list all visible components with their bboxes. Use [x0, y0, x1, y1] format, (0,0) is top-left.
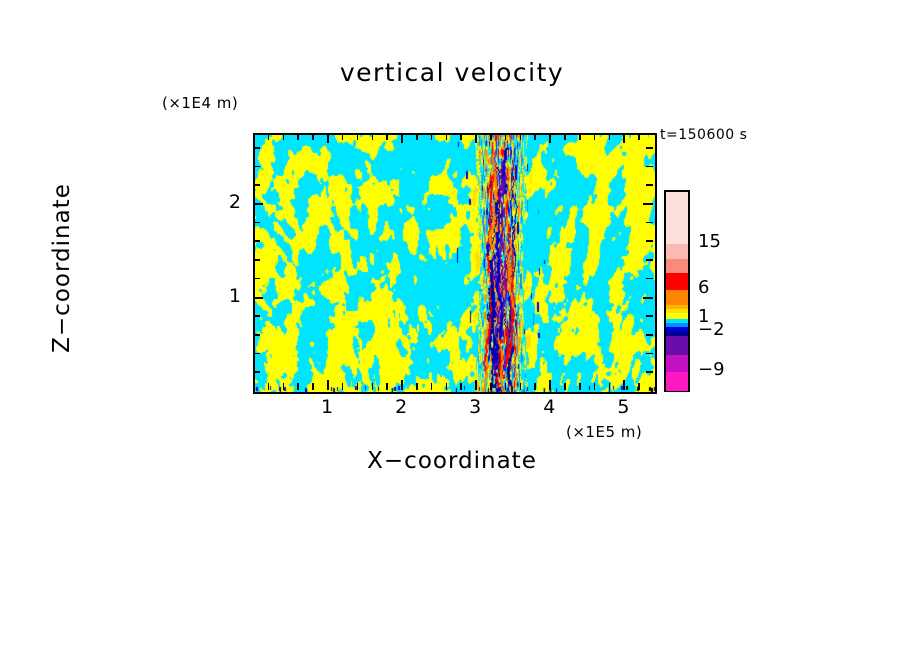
- y-tick-right: [646, 315, 653, 317]
- x-tick: [297, 383, 299, 390]
- x-tick: [327, 380, 329, 390]
- colorbar-band: [666, 355, 688, 373]
- colorbar-container: 1561−2−9: [664, 190, 690, 392]
- x-tick: [490, 383, 492, 390]
- x-tick: [342, 383, 344, 390]
- x-tick-top: [579, 133, 581, 140]
- x-axis-title: X−coordinate: [0, 448, 904, 474]
- x-axis-unit-label: (×1E5 m): [566, 423, 642, 441]
- y-tick: [253, 371, 260, 373]
- x-tick: [268, 383, 270, 390]
- x-tick-top: [431, 133, 433, 140]
- colorbar-band: [666, 372, 688, 391]
- x-tick: [416, 383, 418, 390]
- x-tick-top: [372, 133, 374, 140]
- colorbar-tick-label: 6: [698, 277, 709, 298]
- x-tick: [401, 380, 403, 390]
- colorbar-band: [666, 273, 688, 291]
- y-tick: [253, 334, 260, 336]
- x-tick-top: [505, 133, 507, 140]
- x-tick-top: [623, 133, 625, 143]
- colorbar-band: [666, 336, 688, 355]
- x-tick-top: [460, 133, 462, 140]
- y-tick: [253, 222, 260, 224]
- x-tick-label: 3: [455, 396, 495, 418]
- x-tick: [372, 383, 374, 390]
- y-tick-right: [646, 259, 653, 261]
- y-tick-label: 1: [201, 285, 241, 307]
- x-tick: [475, 380, 477, 390]
- y-axis-unit-label: (×1E4 m): [162, 94, 238, 112]
- y-tick: [253, 184, 260, 186]
- y-tick-right: [646, 353, 653, 355]
- x-tick-label: 2: [381, 396, 421, 418]
- y-tick: [253, 147, 260, 149]
- x-tick-top: [342, 133, 344, 140]
- x-tick: [594, 383, 596, 390]
- x-tick: [460, 383, 462, 390]
- x-tick: [549, 380, 551, 390]
- x-tick-top: [475, 133, 477, 143]
- x-tick-top: [594, 133, 596, 140]
- x-tick: [534, 383, 536, 390]
- colorbar-band: [666, 290, 688, 305]
- velocity-field-heatmap: [255, 135, 655, 392]
- x-tick-top: [416, 133, 418, 140]
- y-tick-right: [646, 334, 653, 336]
- x-tick-top: [520, 133, 522, 140]
- x-tick: [638, 383, 640, 390]
- x-tick-top: [446, 133, 448, 140]
- x-tick-label: 5: [603, 396, 643, 418]
- y-tick: [253, 240, 260, 242]
- y-tick-right: [646, 184, 653, 186]
- colorbar-tick-label: −2: [698, 319, 725, 340]
- x-tick-top: [401, 133, 403, 143]
- x-tick: [386, 383, 388, 390]
- x-tick-top: [534, 133, 536, 140]
- y-tick: [253, 315, 260, 317]
- x-tick: [312, 383, 314, 390]
- y-tick: [253, 353, 260, 355]
- x-tick-top: [268, 133, 270, 140]
- x-tick-top: [386, 133, 388, 140]
- colorbar-tick-label: 15: [698, 231, 721, 252]
- x-tick-label: 4: [529, 396, 569, 418]
- x-tick-top: [283, 133, 285, 140]
- y-tick: [253, 203, 263, 205]
- colorbar-band: [666, 259, 688, 274]
- x-tick-top: [549, 133, 551, 143]
- x-tick: [520, 383, 522, 390]
- y-tick-right: [646, 222, 653, 224]
- y-axis-title: Z−coordinate: [49, 148, 75, 388]
- x-tick: [283, 383, 285, 390]
- x-tick: [431, 383, 433, 390]
- x-tick: [505, 383, 507, 390]
- x-tick: [579, 383, 581, 390]
- x-tick-label: 1: [307, 396, 347, 418]
- x-tick: [564, 383, 566, 390]
- y-tick-right: [646, 371, 653, 373]
- figure-title: vertical velocity: [0, 58, 904, 87]
- time-annotation: t=150600 s: [660, 127, 747, 143]
- y-tick: [253, 259, 260, 261]
- figure-root: vertical velocity (×1E4 m) t=150600 s Z−…: [0, 0, 904, 654]
- x-tick: [357, 383, 359, 390]
- colorbar-band: [666, 192, 688, 245]
- x-tick-top: [327, 133, 329, 143]
- y-tick-right: [646, 240, 653, 242]
- plot-area: [253, 133, 657, 394]
- colorbar: [664, 190, 690, 392]
- y-tick: [253, 166, 260, 168]
- x-tick-top: [609, 133, 611, 140]
- y-tick-right: [643, 203, 653, 205]
- x-tick-top: [638, 133, 640, 140]
- x-tick-top: [312, 133, 314, 140]
- x-tick: [609, 383, 611, 390]
- colorbar-tick-label: −9: [698, 359, 725, 380]
- y-tick-right: [643, 297, 653, 299]
- y-tick-right: [646, 166, 653, 168]
- colorbar-band: [666, 244, 688, 259]
- x-tick-top: [297, 133, 299, 140]
- x-tick-top: [564, 133, 566, 140]
- x-tick: [623, 380, 625, 390]
- y-tick: [253, 297, 263, 299]
- y-tick-right: [646, 147, 653, 149]
- x-tick: [446, 383, 448, 390]
- x-tick-top: [357, 133, 359, 140]
- y-tick: [253, 278, 260, 280]
- x-tick-top: [490, 133, 492, 140]
- y-tick-right: [646, 278, 653, 280]
- y-tick-label: 2: [201, 191, 241, 213]
